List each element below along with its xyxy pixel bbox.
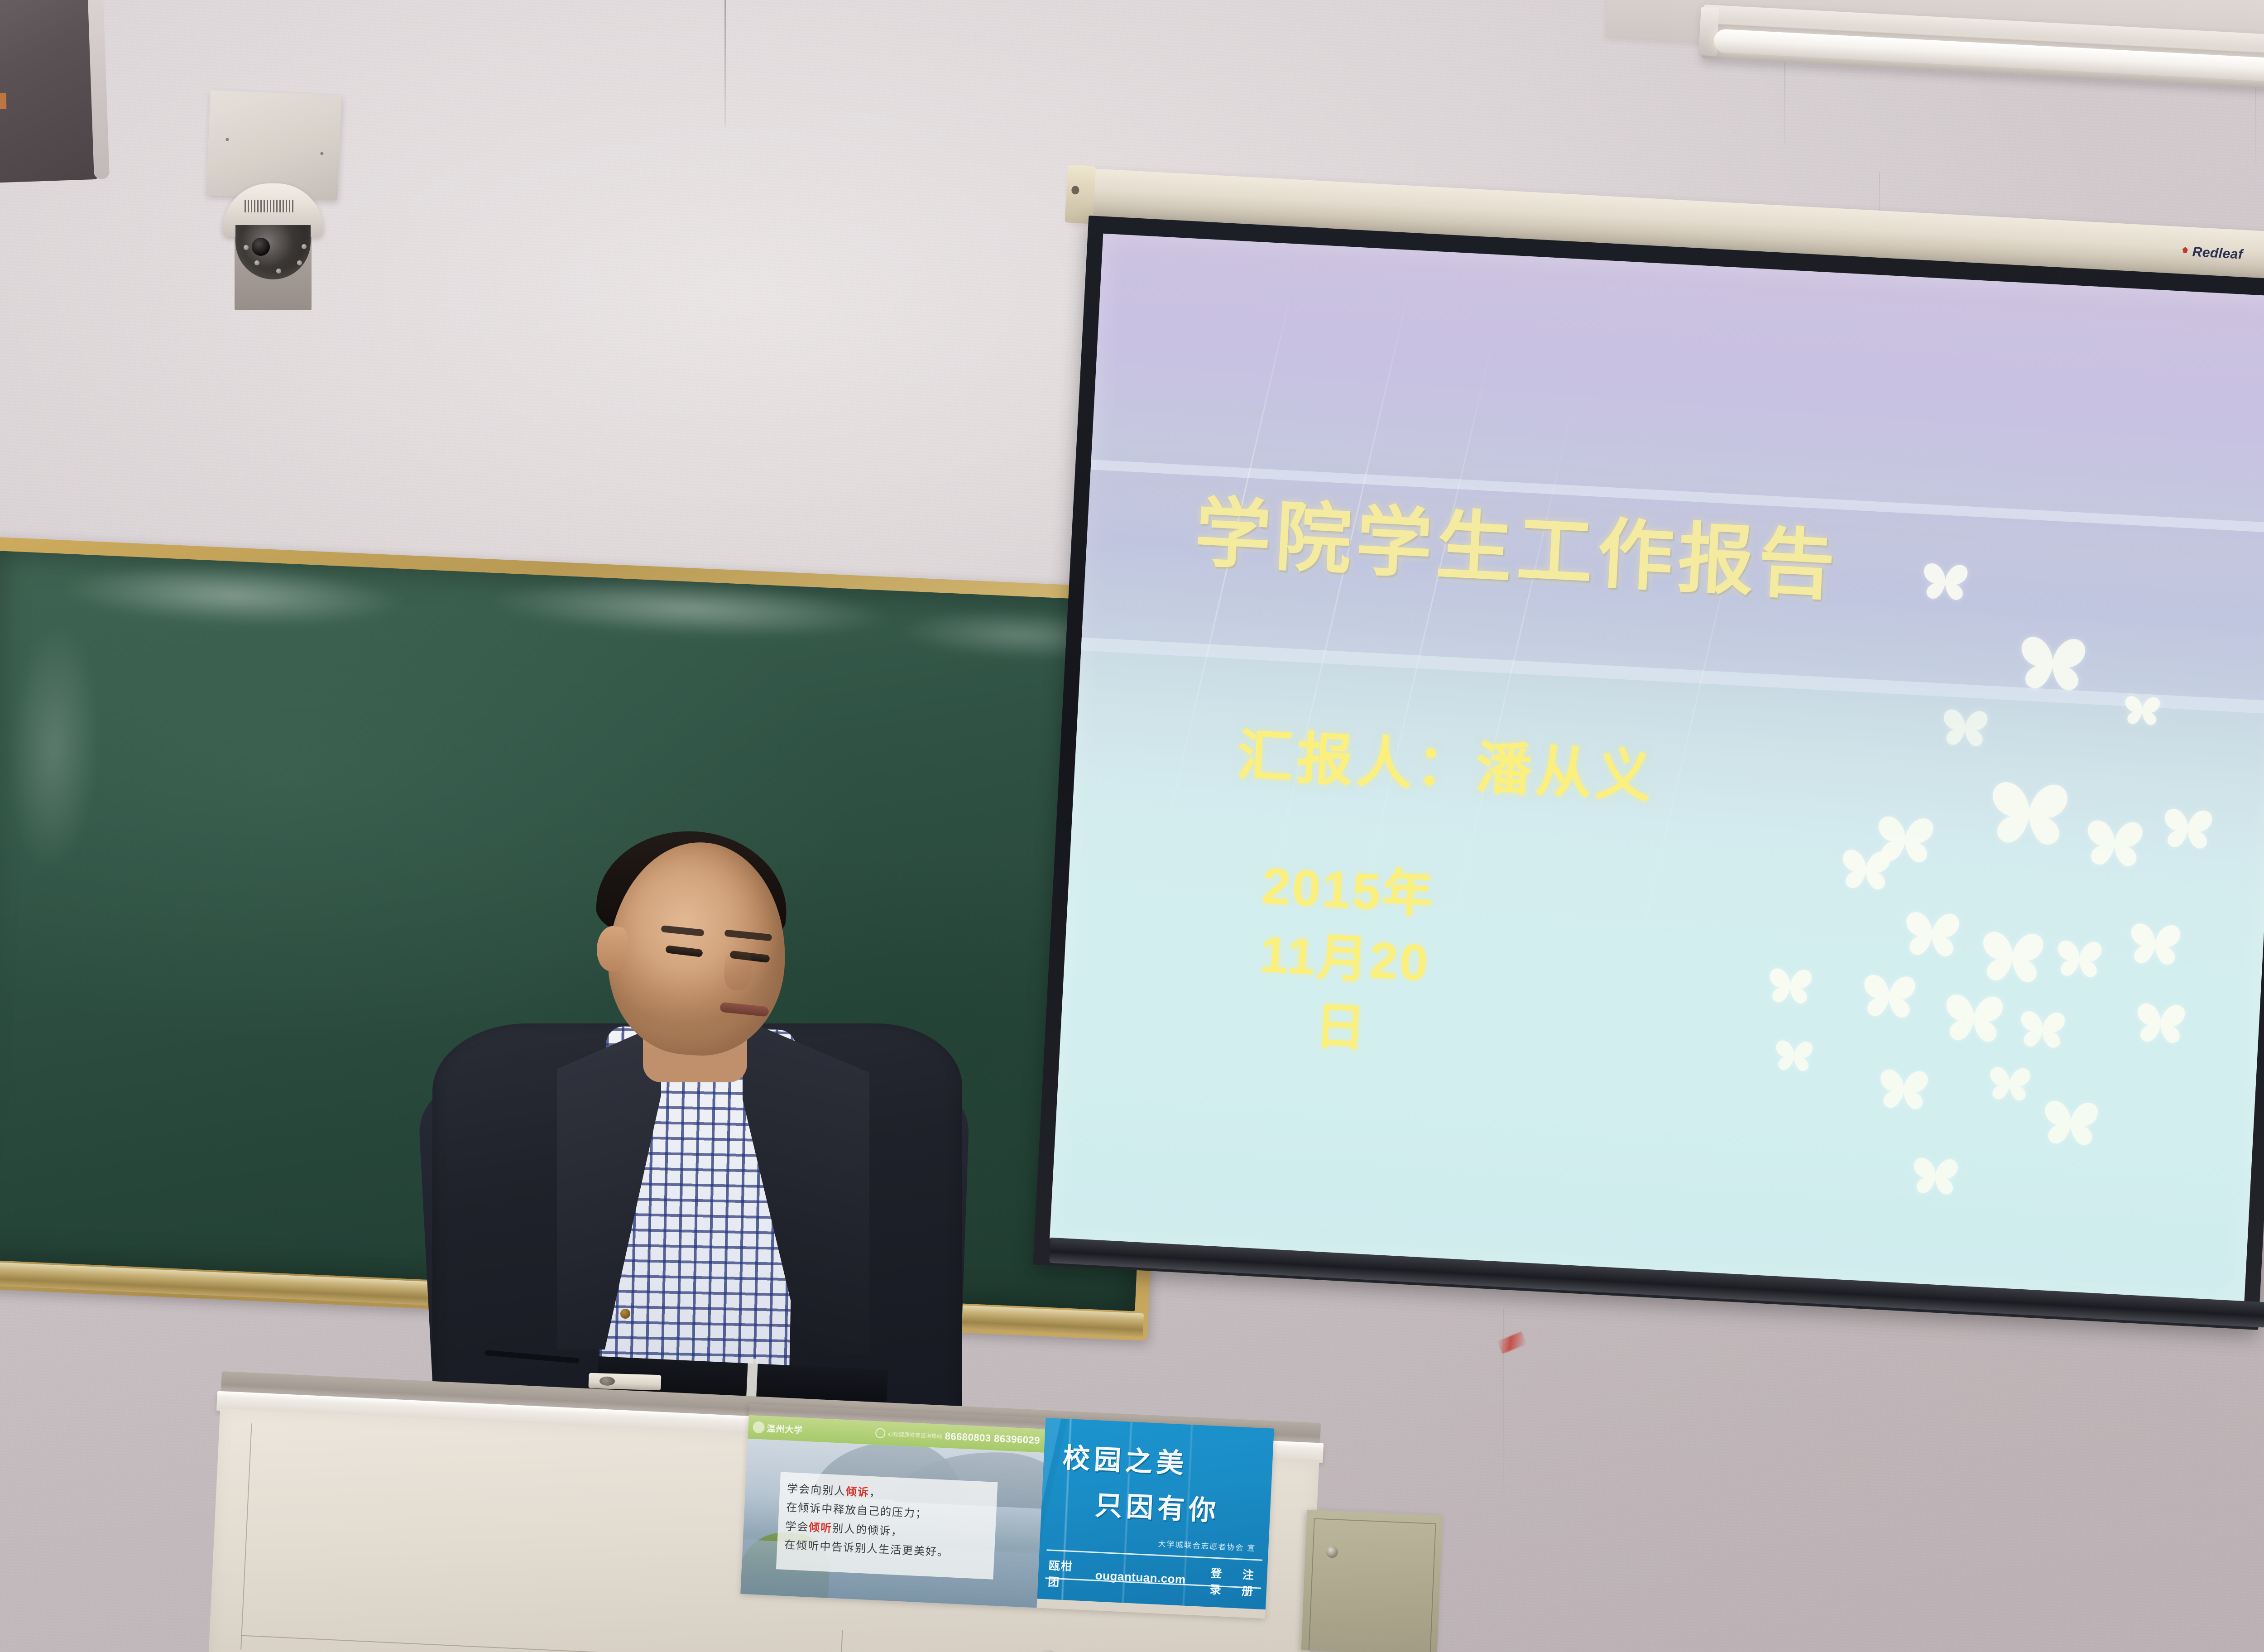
butterfly-icon <box>2079 812 2150 869</box>
podium-poster: 温州大学 心理健康教育咨询热线 86680803 86396029 学会向别人倾… <box>740 1404 1274 1618</box>
butterfly-icon <box>1981 770 2077 850</box>
butterfly-icon <box>1938 985 2010 1045</box>
register-link[interactable]: 注册 <box>1241 1566 1260 1599</box>
butterfly-icon <box>2051 933 2108 980</box>
screen-border: 学院学生工作报告 汇报人：潘从义 2015年11月20日 <box>1033 216 2264 1330</box>
butterfly-icon <box>1898 903 1967 960</box>
barcode-label <box>245 200 294 212</box>
jacket-button <box>620 1309 630 1319</box>
butterfly-icon <box>1763 962 1818 1006</box>
login-link[interactable]: 登录 <box>1209 1564 1228 1598</box>
panel-seam <box>241 1635 1277 1652</box>
ir-led-icon <box>276 269 281 274</box>
university-logo-icon <box>753 1421 765 1433</box>
phone-icon <box>875 1428 885 1438</box>
slide-date: 2015年11月20日 <box>1233 851 1456 1067</box>
organization-credit: 大学城联合志愿者协会 宣 <box>1158 1537 1256 1553</box>
butterfly-icon <box>2037 1092 2105 1148</box>
slide-presenter: 汇报人：潘从义 <box>1235 709 1657 813</box>
screw-icon <box>225 138 229 141</box>
camera-lens-icon <box>252 238 270 256</box>
highlight-strip <box>746 1359 758 1400</box>
butterfly-icon <box>1873 1062 1934 1112</box>
butterfly-icon <box>1836 842 1897 893</box>
butterfly-icon <box>2130 996 2192 1046</box>
butterfly-icon <box>1937 702 1993 749</box>
light-endcap <box>1698 7 1719 56</box>
ir-led-icon <box>302 244 307 249</box>
speaker-label <box>0 93 6 110</box>
presentation-slide: 学院学生工作报告 汇报人：潘从义 2015年11月20日 <box>1050 234 2264 1302</box>
university-logo: 温州大学 <box>753 1421 803 1436</box>
utility-cabinet[interactable] <box>1301 1510 1443 1652</box>
presenter-person <box>408 829 996 1413</box>
ir-led-icon <box>254 260 259 265</box>
screw-icon <box>320 152 323 155</box>
roller-endcap <box>1065 164 1096 224</box>
butterfly-icon <box>1770 1035 1818 1073</box>
screen-brand-label: Redleaf <box>2192 245 2244 263</box>
hotline-numbers: 86680803 86396029 <box>945 1430 1040 1446</box>
hotline-block: 心理健康教育咨询热线 86680803 86396029 <box>875 1427 1040 1446</box>
panel-seam <box>838 1630 843 1652</box>
poster-message: 学会向别人倾诉， 在倾诉中释放自己的压力； 学会倾听别人的倾诉， 在倾听中告诉别… <box>776 1472 998 1579</box>
roller-hole <box>1071 186 1079 195</box>
chalk-smudge <box>3 619 105 877</box>
ir-led-icon <box>297 260 302 265</box>
wall-seam <box>1503 1309 1504 1490</box>
poster-brand: 瓯柑团 <box>1047 1557 1075 1591</box>
chalk-smudge <box>60 558 406 633</box>
cabinet-door[interactable] <box>1309 1518 1436 1652</box>
wall-seam <box>724 0 726 127</box>
butterfly-icon <box>1870 808 1941 866</box>
ir-led-icon <box>244 245 249 250</box>
university-name: 温州大学 <box>767 1421 803 1436</box>
butterfly-icon <box>2015 1004 2071 1050</box>
classroom-scene: Redleaf 学院学生工作报告 汇报人：潘从义 2015年11月20日 <box>0 0 2264 1652</box>
highlight-word: 倾听 <box>809 1521 833 1534</box>
butterfly-icon <box>1907 1151 1964 1197</box>
hotline-label: 心理健康教育咨询热线 <box>887 1430 942 1440</box>
poster-footer: 瓯柑团 ougantuan.com 登录 注册 <box>1047 1557 1260 1599</box>
butterfly-icon <box>2124 916 2187 968</box>
poster-blue-panel: 校园之美 只因有你 大学城联合志愿者协会 宣 瓯柑团 ougantuan.com… <box>1037 1418 1274 1609</box>
butterfly-icon <box>1984 1061 2036 1103</box>
speaker-grille <box>0 0 103 183</box>
projection-screen: Redleaf 学院学生工作报告 汇报人：潘从义 2015年11月20日 <box>1014 168 2264 1353</box>
microphone-base[interactable] <box>588 1373 661 1391</box>
butterfly-icon <box>1974 922 2052 986</box>
butterfly-icon <box>1856 967 1922 1021</box>
blue-headline-2: 只因有你 <box>1094 1483 1259 1530</box>
poster-left-panel: 温州大学 心理健康教育咨询热线 86680803 86396029 学会向别人倾… <box>740 1415 1045 1608</box>
cctv-camera-icon <box>208 93 344 310</box>
blue-headline-1: 校园之美 <box>1062 1436 1262 1484</box>
panel-seam <box>240 1423 252 1650</box>
highlight-word: 倾诉 <box>845 1485 869 1498</box>
wall-speaker <box>0 0 103 183</box>
butterfly-icon <box>2157 802 2218 852</box>
